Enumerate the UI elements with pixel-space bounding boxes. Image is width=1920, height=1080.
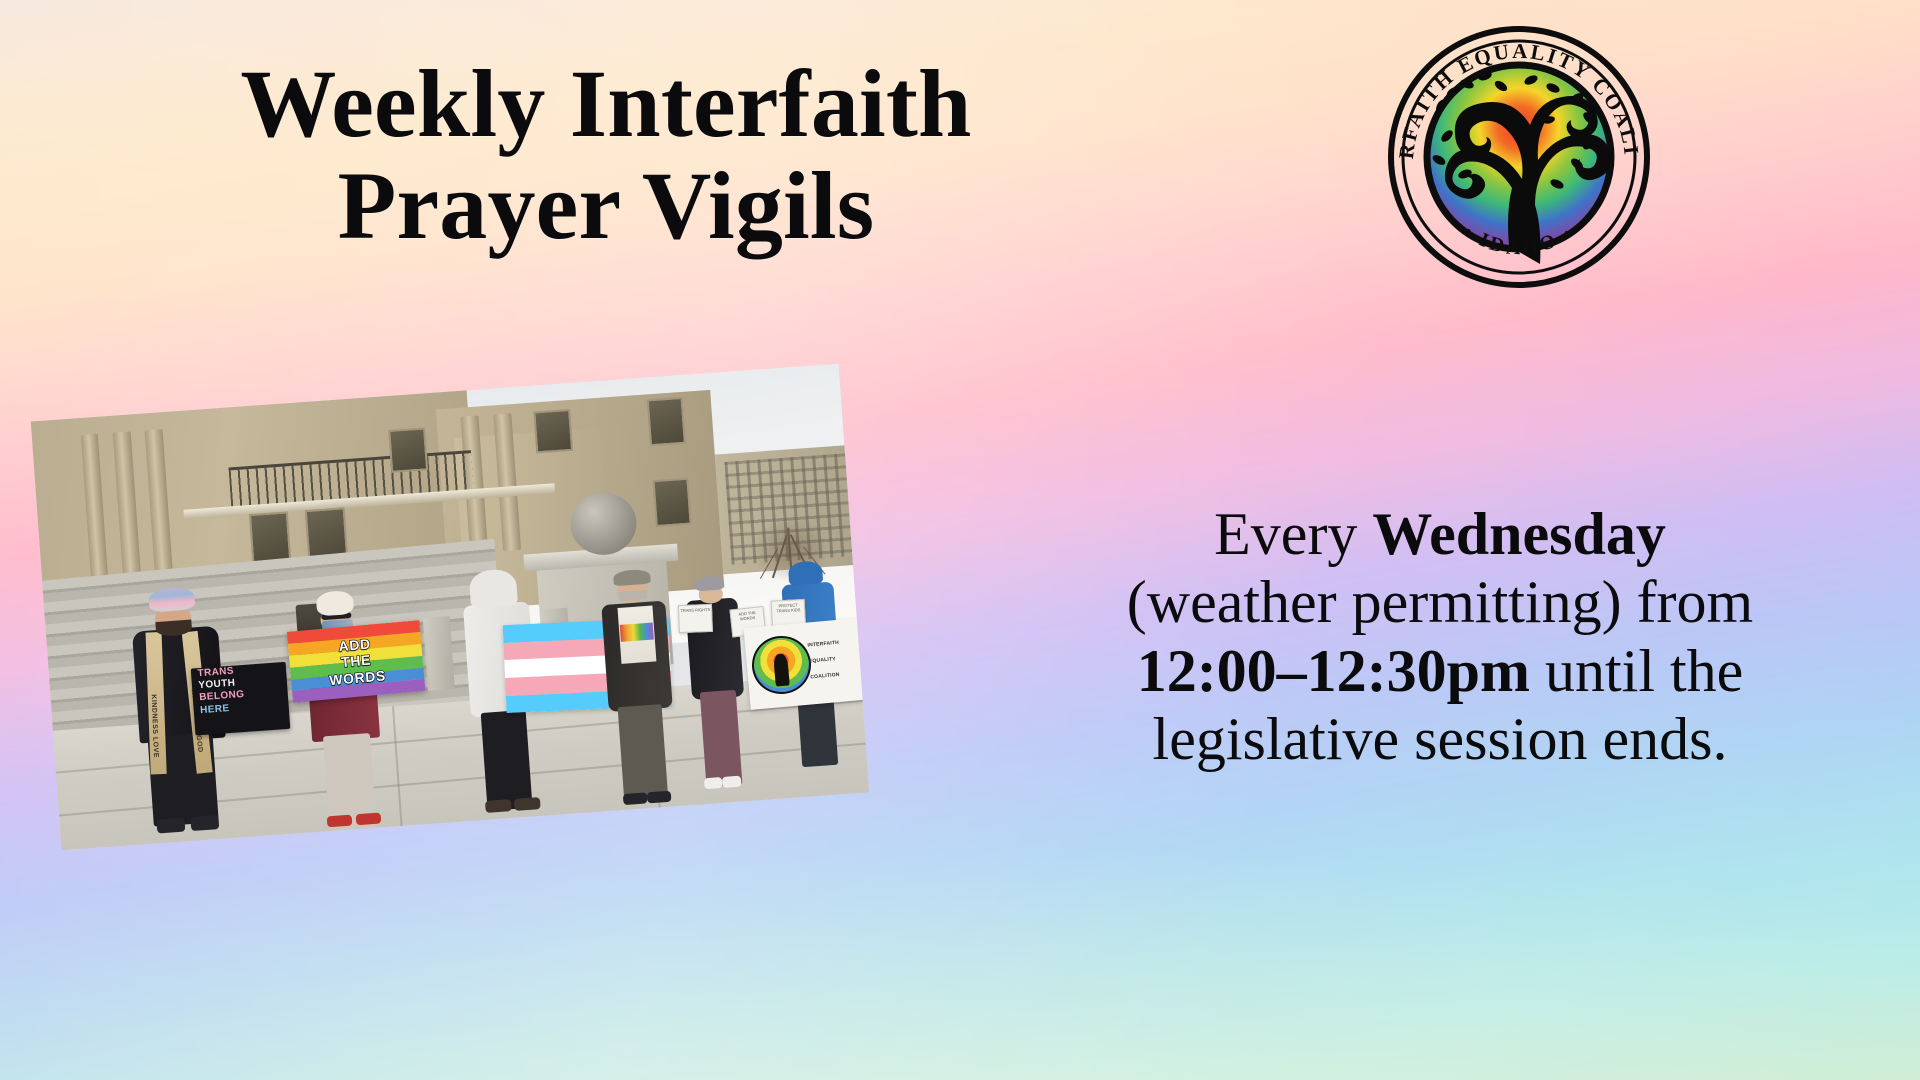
info-every: Every <box>1214 501 1372 567</box>
vigil-photo-content: KINDNESS LOVE WITH YOUR GOD TRANS YOUTH … <box>31 364 870 851</box>
photo-window <box>248 511 291 565</box>
trans-youth-belong-here-sign: TRANS YOUTH BELONG HERE <box>190 662 290 735</box>
add-the-words-sign: ADD THE WORDS <box>287 620 426 703</box>
stole-text-left: KINDNESS LOVE <box>150 695 159 759</box>
info-until: until the <box>1530 638 1743 704</box>
photo-person-five-legs <box>700 690 742 787</box>
vigil-photo: KINDNESS LOVE WITH YOUR GOD TRANS YOUTH … <box>31 364 870 851</box>
photo-stole-rainbow-band <box>620 623 654 642</box>
photo-person-four-legs <box>618 704 668 801</box>
title-line-1: Weekly Interfaith <box>176 56 1036 152</box>
mini-sign-text: PROTECT TRANS KIDS <box>772 600 805 614</box>
organization-logo: INTERFAITH EQUALITY COALITION · IDAHO · <box>1381 14 1657 292</box>
photo-shoe <box>191 815 219 831</box>
photo-shoe <box>157 818 185 834</box>
photo-stone-post <box>422 616 455 691</box>
photo-shoe <box>327 815 352 828</box>
photo-shoe <box>623 792 648 805</box>
photo-window <box>533 409 572 454</box>
photo-shoe <box>514 797 541 811</box>
info-line-3: 12:00–12:30pm until the <box>1020 637 1860 705</box>
info-weekday: Wednesday <box>1372 501 1665 567</box>
photo-shoe <box>485 799 512 813</box>
rainbow-tree-logo-icon: INTERFAITH EQUALITY COALITION · IDAHO · <box>1381 14 1657 292</box>
page-title: Weekly Interfaith Prayer Vigils <box>176 56 1036 254</box>
mini-sign-text: ADD THE WORDS <box>731 607 764 622</box>
info-line-2: (weather permitting) from <box>1020 568 1860 636</box>
iec-banner-seal-icon <box>749 634 812 697</box>
photo-grey-beanie <box>695 575 725 591</box>
photo-blue-hood <box>788 561 824 587</box>
photo-window <box>646 396 686 445</box>
photo-window <box>652 478 692 527</box>
photo-hoodie-hood <box>469 569 518 608</box>
title-line-2: Prayer Vigils <box>176 158 1036 254</box>
photo-shoe <box>647 790 672 803</box>
photo-shoe <box>703 777 722 789</box>
photo-shoe <box>356 812 381 825</box>
mini-sign-text: TRANS RIGHTS <box>679 605 712 613</box>
schedule-info: Every Wednesday (weather permitting) fro… <box>1020 500 1860 774</box>
photo-flat-cap <box>613 569 651 586</box>
info-time: 12:00–12:30pm <box>1137 638 1530 704</box>
info-line-4: legislative session ends. <box>1020 705 1860 773</box>
iec-banner: INTERFAITH EQUALITY COALITION <box>743 617 869 710</box>
photo-window <box>389 428 428 473</box>
photo-trans-pride-beanie <box>148 587 195 613</box>
banner-line-3: COALITION <box>810 669 870 681</box>
poster-canvas: Weekly Interfaith Prayer Vigils <box>0 0 1920 1080</box>
photo-face-mask <box>619 589 647 600</box>
photo-person-three-legs <box>480 709 532 811</box>
info-line-1: Every Wednesday <box>1020 500 1860 568</box>
photo-mini-sign: TRANS RIGHTS <box>678 604 713 633</box>
photo-white-beanie <box>316 590 355 616</box>
photo-shoe <box>722 776 741 788</box>
